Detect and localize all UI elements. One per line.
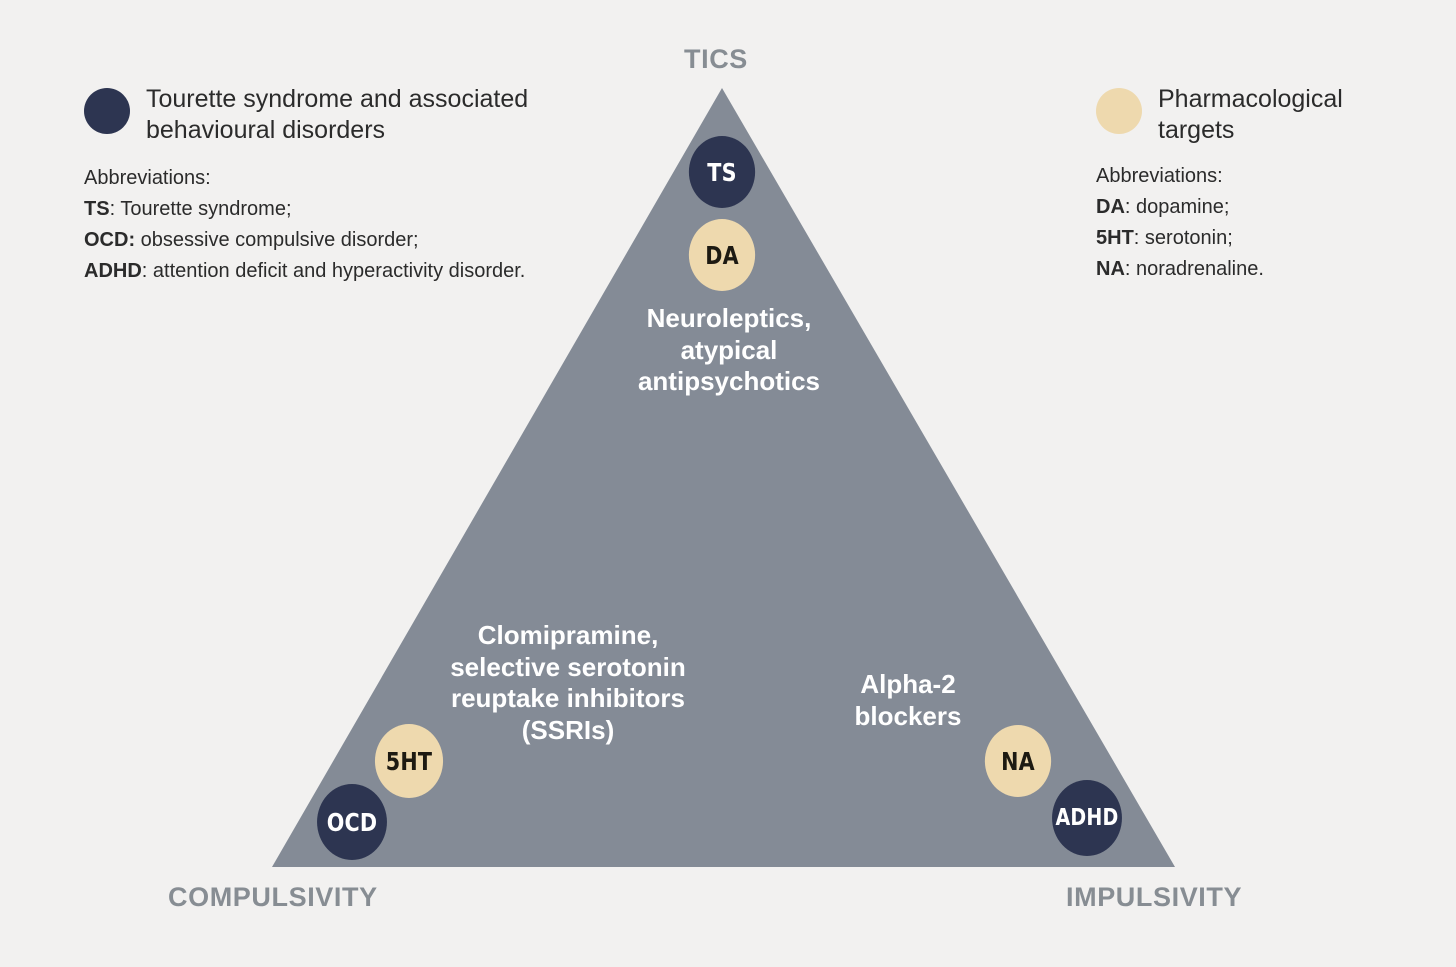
treatment-label-compulsivity: Clomipramine, selective serotonin reupta… [428, 620, 708, 747]
legend-disorders: Tourette syndrome and associated behavio… [84, 84, 554, 287]
abbrev-def-ts: Tourette syndrome; [120, 198, 291, 220]
legend-targets-title: Pharmacological targets [1158, 84, 1426, 147]
node-da-label: DA [705, 241, 739, 270]
node-5ht-label: 5HT [386, 747, 432, 776]
abbrev-def-da: dopamine; [1136, 196, 1229, 218]
abbrev-sep-na: : [1125, 258, 1136, 280]
legend-dot-disorder-icon [84, 88, 130, 134]
abbrev-term-adhd: ADHD [84, 260, 142, 282]
abbrev-heading-left: Abbreviations: [84, 163, 554, 194]
legend-disorders-header: Tourette syndrome and associated behavio… [84, 84, 554, 147]
corner-label-compulsivity: COMPULSIVITY [168, 882, 378, 913]
legend-targets: Pharmacological targets Abbreviations: D… [1096, 84, 1426, 285]
node-ocd[interactable]: OCD [317, 784, 387, 860]
abbrev-item-ts: TS: Tourette syndrome; [84, 194, 554, 225]
legend-disorders-abbreviations: Abbreviations: TS: Tourette syndrome; OC… [84, 163, 554, 288]
node-5ht[interactable]: 5HT [375, 724, 443, 798]
corner-label-impulsivity: IMPULSIVITY [1066, 882, 1242, 913]
node-ts-label: TS [707, 158, 736, 187]
abbrev-def-na: noradrenaline. [1136, 258, 1264, 280]
abbrev-term-5ht: 5HT [1096, 227, 1134, 249]
node-adhd[interactable]: ADHD [1052, 780, 1122, 856]
abbrev-item-ocd: OCD: obsessive compulsive disorder; [84, 225, 554, 256]
legend-dot-target-icon [1096, 88, 1142, 134]
treatment-label-tics: Neuroleptics, atypical antipsychotics [600, 303, 858, 398]
abbrev-item-adhd: ADHD: attention deficit and hyperactivit… [84, 256, 554, 287]
abbrev-term-na: NA [1096, 258, 1125, 280]
node-ts[interactable]: TS [689, 136, 755, 208]
abbrev-heading-right: Abbreviations: [1096, 161, 1426, 192]
corner-label-tics: TICS [684, 44, 748, 75]
legend-targets-abbreviations: Abbreviations: DA: dopamine; 5HT: seroto… [1096, 161, 1426, 286]
abbrev-term-ts: TS [84, 198, 110, 220]
node-na[interactable]: NA [985, 725, 1051, 797]
abbrev-term-ocd: OCD: [84, 229, 135, 251]
node-ocd-label: OCD [327, 808, 378, 837]
node-na-label: NA [1001, 747, 1035, 776]
treatment-label-impulsivity: Alpha-2 blockers [828, 669, 988, 732]
abbrev-item-5ht: 5HT: serotonin; [1096, 223, 1426, 254]
abbrev-sep-ts: : [110, 198, 121, 220]
abbrev-sep-adhd: : [142, 260, 153, 282]
abbrev-sep-5ht: : [1134, 227, 1145, 249]
abbrev-sep-da: : [1125, 196, 1136, 218]
legend-targets-header: Pharmacological targets [1096, 84, 1426, 147]
abbrev-item-na: NA: noradrenaline. [1096, 254, 1426, 285]
legend-disorders-title: Tourette syndrome and associated behavio… [146, 84, 554, 147]
abbrev-term-da: DA [1096, 196, 1125, 218]
node-adhd-label: ADHD [1055, 805, 1118, 831]
abbrev-def-5ht: serotonin; [1145, 227, 1233, 249]
node-da[interactable]: DA [689, 219, 755, 291]
abbrev-def-ocd: obsessive compulsive disorder; [141, 229, 419, 251]
diagram-canvas: TICS COMPULSIVITY IMPULSIVITY Neurolepti… [0, 0, 1456, 967]
abbrev-item-da: DA: dopamine; [1096, 192, 1426, 223]
abbrev-def-adhd: attention deficit and hyperactivity diso… [153, 260, 525, 282]
